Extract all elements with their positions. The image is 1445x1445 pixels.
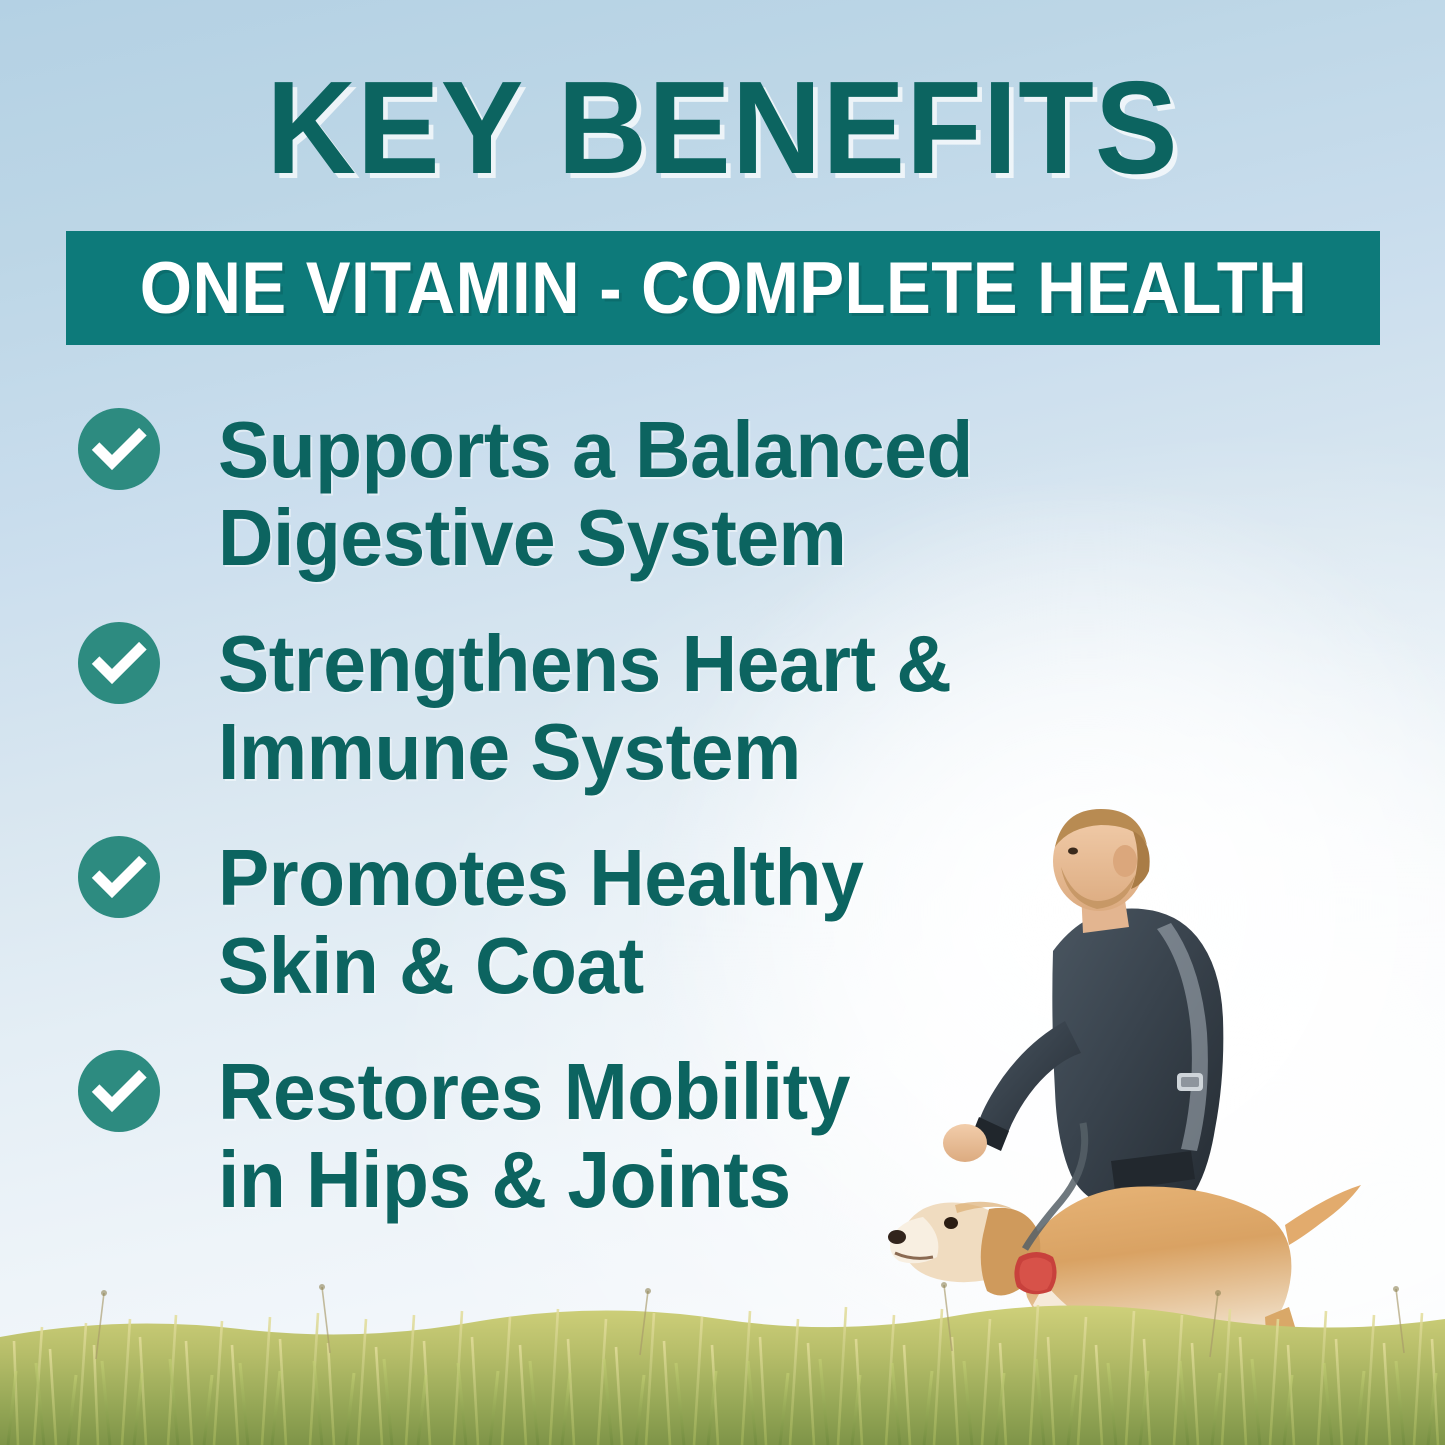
benefit-line-2: Digestive System bbox=[218, 493, 846, 582]
benefit-item-digestive: Supports a Balanced Digestive System bbox=[78, 406, 1018, 582]
benefit-item-skin-coat: Promotes Healthy Skin & Coat bbox=[78, 834, 1018, 1010]
check-icon bbox=[78, 408, 160, 490]
page-title: KEY BENEFITS bbox=[43, 62, 1401, 194]
benefit-label: Strengthens Heart & Immune System bbox=[218, 620, 951, 796]
benefit-line-2: Immune System bbox=[218, 707, 801, 796]
benefit-item-heart-immune: Strengthens Heart & Immune System bbox=[78, 620, 1018, 796]
benefit-line-2: Skin & Coat bbox=[218, 921, 644, 1010]
check-icon bbox=[78, 1050, 160, 1132]
check-icon bbox=[78, 836, 160, 918]
key-benefits-poster: KEY BENEFITS ONE VITAMIN - COMPLETE HEAL… bbox=[0, 0, 1445, 1445]
benefit-line-1: Strengthens Heart & bbox=[218, 619, 951, 708]
benefit-label: Supports a Balanced Digestive System bbox=[218, 406, 973, 582]
grass-field bbox=[0, 1275, 1445, 1445]
benefit-line-1: Restores Mobility bbox=[218, 1047, 850, 1136]
subtitle-banner-label: ONE VITAMIN - COMPLETE HEALTH bbox=[139, 252, 1306, 325]
check-icon bbox=[78, 622, 160, 704]
subtitle-banner: ONE VITAMIN - COMPLETE HEALTH bbox=[66, 231, 1380, 345]
benefit-line-1: Promotes Healthy bbox=[218, 833, 863, 922]
benefit-line-1: Supports a Balanced bbox=[218, 405, 973, 494]
benefit-item-hips-joints: Restores Mobility in Hips & Joints bbox=[78, 1048, 1018, 1224]
benefit-label: Promotes Healthy Skin & Coat bbox=[218, 834, 863, 1010]
benefit-line-2: in Hips & Joints bbox=[218, 1135, 791, 1224]
benefit-label: Restores Mobility in Hips & Joints bbox=[218, 1048, 850, 1224]
benefits-list: Supports a Balanced Digestive System Str… bbox=[78, 406, 1018, 1262]
